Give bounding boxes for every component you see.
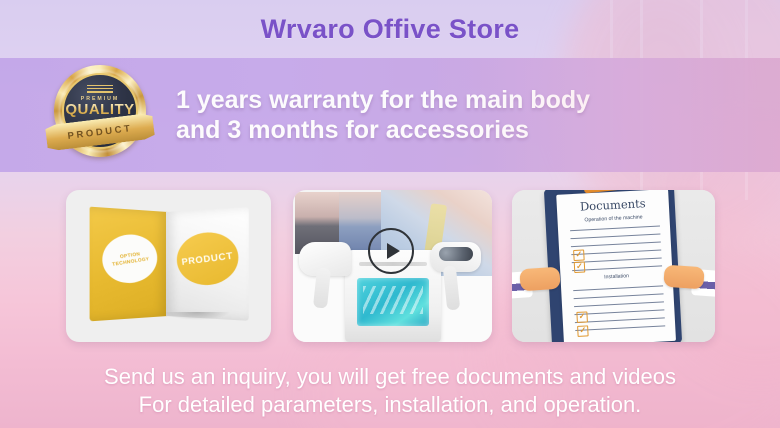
brochure-left-page: OPTION TECHNOLOGY [90, 207, 168, 322]
machine-handle-left [299, 242, 351, 276]
brochure-spine-shadow [164, 312, 230, 320]
documents-card[interactable]: Documents Operation of the machine Insta… [512, 190, 715, 342]
brochure-illustration: OPTION TECHNOLOGY PRODUCT [94, 208, 244, 320]
video-card[interactable] [293, 190, 492, 342]
store-title: Wrvaro Offive Store [261, 16, 520, 43]
badge-lines-icon [87, 85, 113, 93]
play-icon[interactable] [368, 228, 414, 274]
right-hand [663, 265, 704, 290]
badge-quality-label: QUALITY [65, 102, 134, 118]
footer-line-1: Send us an inquiry, you will get free do… [104, 363, 676, 391]
warranty-line-1: 1 years warranty for the main body [176, 85, 590, 116]
warranty-text: 1 years warranty for the main body and 3… [176, 85, 590, 146]
document-title: Documents [557, 195, 670, 215]
machine-screen [357, 278, 429, 326]
machine-handle-right [431, 242, 481, 272]
check-icon: ✓ [577, 325, 589, 337]
brochure-right-page: PRODUCT [166, 207, 249, 321]
brochure-right-oval: PRODUCT [174, 228, 242, 288]
footer-cta: Send us an inquiry, you will get free do… [0, 354, 780, 428]
check-icon: ✓ [574, 261, 586, 273]
document-paper: Documents Operation of the machine Insta… [556, 190, 676, 342]
feature-cards-row: OPTION TECHNOLOGY PRODUCT [0, 190, 780, 342]
brochure-card[interactable]: OPTION TECHNOLOGY PRODUCT [66, 190, 271, 342]
promo-banner: Wrvaro Offive Store PREMIUM QUALITY ★★★ … [0, 0, 780, 428]
document-section-1: Operation of the machine [557, 213, 669, 225]
brochure-left-text: OPTION TECHNOLOGY [102, 249, 158, 269]
brochure-right-text: PRODUCT [181, 250, 234, 267]
check-icon: ✓ [576, 311, 588, 323]
badge-product-label: PRODUCT [67, 123, 133, 142]
clipboard: Documents Operation of the machine Insta… [544, 190, 682, 342]
footer-line-2: For detailed parameters, installation, a… [139, 391, 642, 419]
warranty-line-2: and 3 months for accessories [176, 115, 590, 146]
warranty-band: PREMIUM QUALITY ★★★ PRODUCT 1 years warr… [0, 58, 780, 172]
premium-quality-badge: PREMIUM QUALITY ★★★ PRODUCT [46, 63, 154, 167]
left-hand [519, 267, 560, 292]
check-icon: ✓ [573, 249, 585, 261]
store-title-area: Wrvaro Offive Store [0, 0, 780, 58]
brochure-left-oval: OPTION TECHNOLOGY [99, 232, 161, 288]
